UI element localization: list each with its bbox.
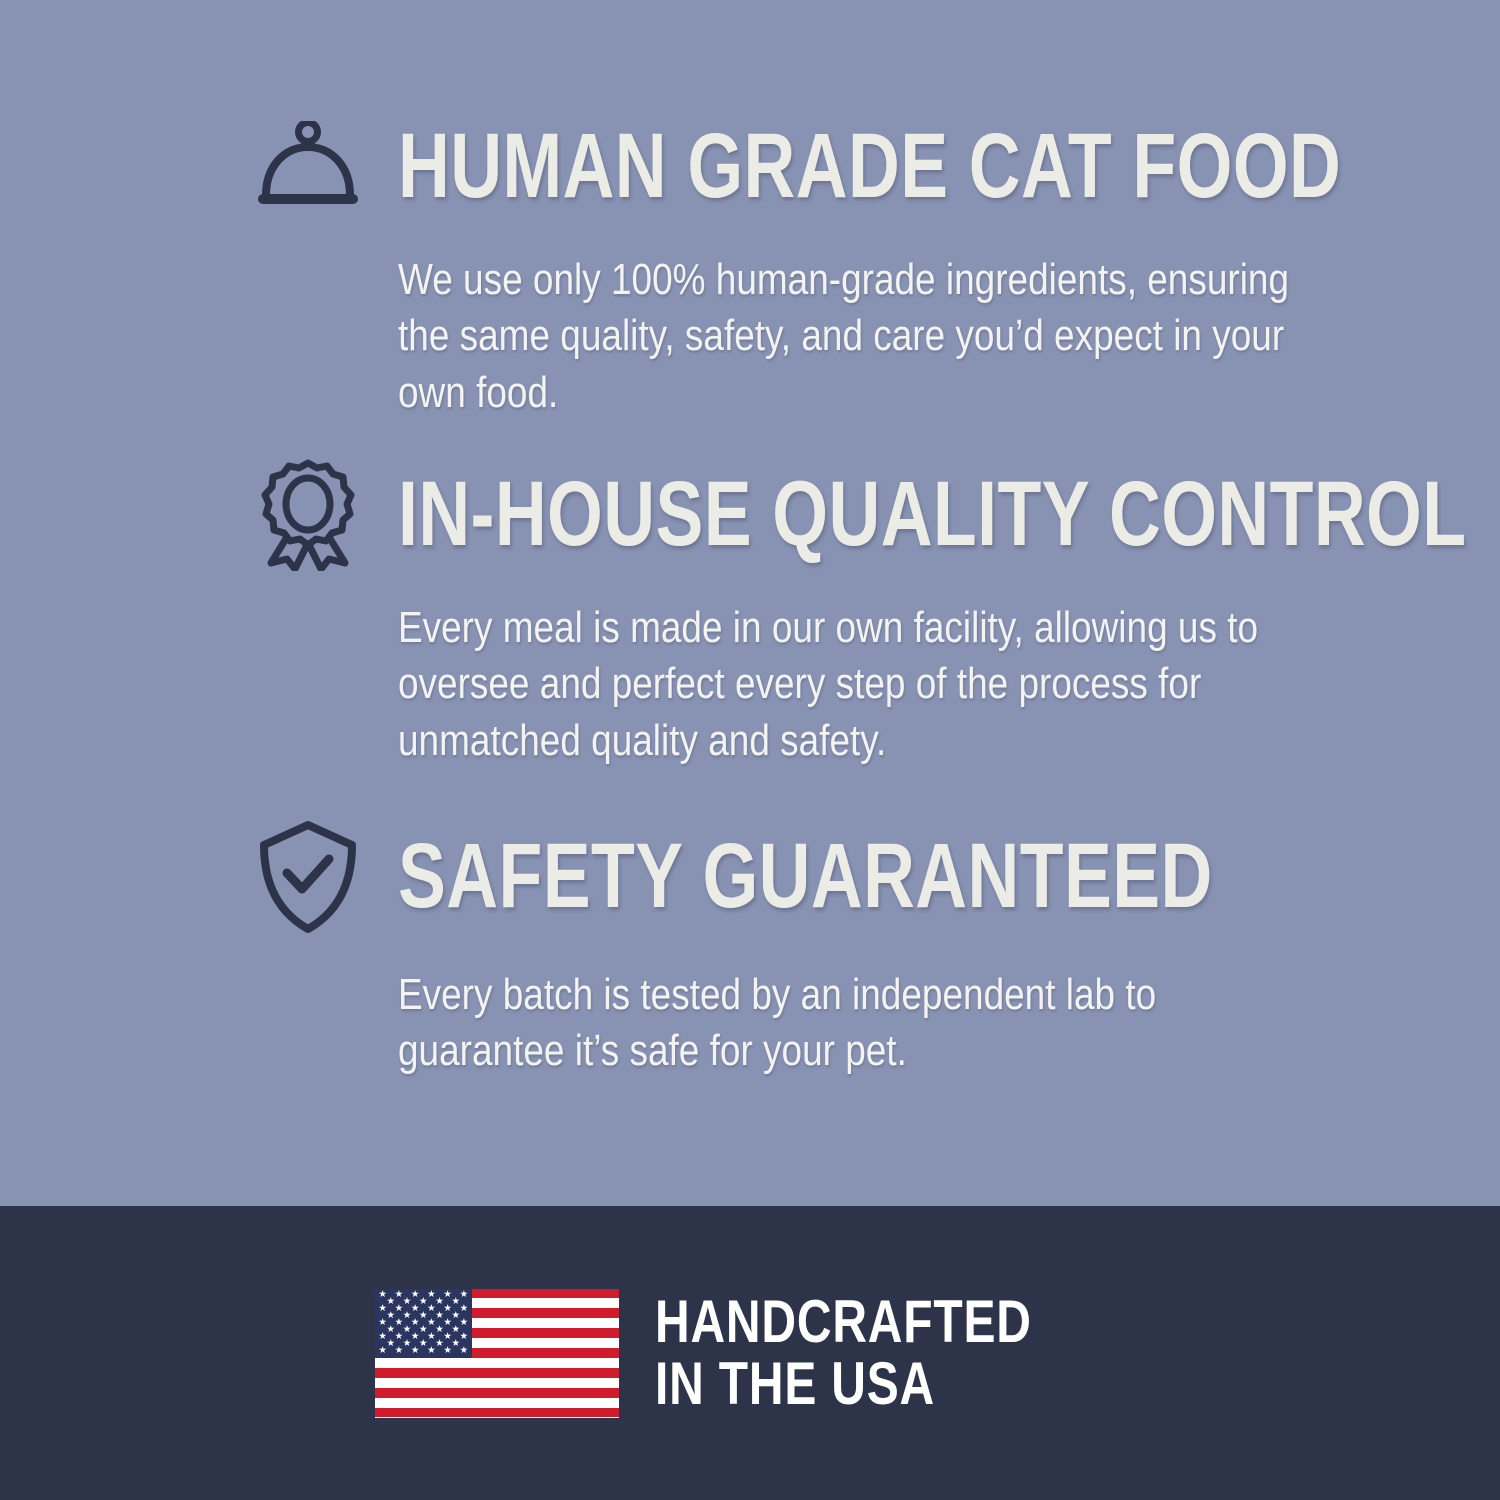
flag-star: ★	[427, 1346, 436, 1356]
flag-star: ★	[395, 1346, 404, 1356]
feature-header: IN-HOUSE QUALITY CONTROL	[0, 460, 1500, 570]
feature-title: IN-HOUSE QUALITY CONTROL	[398, 460, 1466, 570]
flag-star: ★	[443, 1346, 452, 1356]
flag-stripe	[375, 1388, 619, 1398]
cloche-icon	[248, 112, 368, 222]
flag-stripe	[375, 1408, 619, 1418]
flag-canton: ★★★★★★★★★★★★★★★★★★★★★★★★★★★★★★★★★★★★★★★★…	[375, 1289, 473, 1358]
footer-content: ★★★★★★★★★★★★★★★★★★★★★★★★★★★★★★★★★★★★★★★★…	[375, 1289, 1126, 1418]
flag-star: ★	[460, 1332, 469, 1342]
feature-block-safety: SAFETY GUARANTEED Every batch is tested …	[0, 822, 1500, 932]
footer-line-2: IN THE USA	[655, 1353, 1032, 1415]
flag-star: ★	[460, 1305, 469, 1315]
feature-description: Every meal is made in our own facility, …	[398, 600, 1305, 769]
feature-description: Every batch is tested by an independent …	[398, 967, 1305, 1080]
feature-header: HUMAN GRADE CAT FOOD	[0, 112, 1500, 222]
feature-description: We use only 100% human-grade ingredients…	[398, 252, 1305, 421]
feature-title: HUMAN GRADE CAT FOOD	[398, 112, 1341, 222]
features-section: HUMAN GRADE CAT FOOD We use only 100% hu…	[0, 0, 1500, 1206]
usa-flag-icon: ★★★★★★★★★★★★★★★★★★★★★★★★★★★★★★★★★★★★★★★★…	[375, 1289, 619, 1418]
flag-star: ★	[378, 1346, 387, 1356]
flag-star: ★	[460, 1291, 469, 1301]
flag-stripe	[375, 1368, 619, 1378]
feature-header: SAFETY GUARANTEED	[0, 822, 1500, 932]
footer-line-1: HANDCRAFTED	[655, 1291, 1032, 1353]
footer-band: ★★★★★★★★★★★★★★★★★★★★★★★★★★★★★★★★★★★★★★★★…	[0, 1206, 1500, 1500]
feature-block-human-grade: HUMAN GRADE CAT FOOD We use only 100% hu…	[0, 112, 1500, 222]
feature-title: SAFETY GUARANTEED	[398, 822, 1213, 932]
shield-check-icon	[248, 822, 368, 932]
handcrafted-usa-text: HANDCRAFTED IN THE USA	[655, 1291, 1032, 1416]
flag-star: ★	[460, 1318, 469, 1328]
flag-star: ★	[411, 1346, 420, 1356]
feature-poster: HUMAN GRADE CAT FOOD We use only 100% hu…	[0, 0, 1500, 1500]
award-ribbon-icon	[248, 460, 368, 570]
feature-block-quality-control: IN-HOUSE QUALITY CONTROL Every meal is m…	[0, 460, 1500, 570]
flag-star: ★	[460, 1346, 469, 1356]
